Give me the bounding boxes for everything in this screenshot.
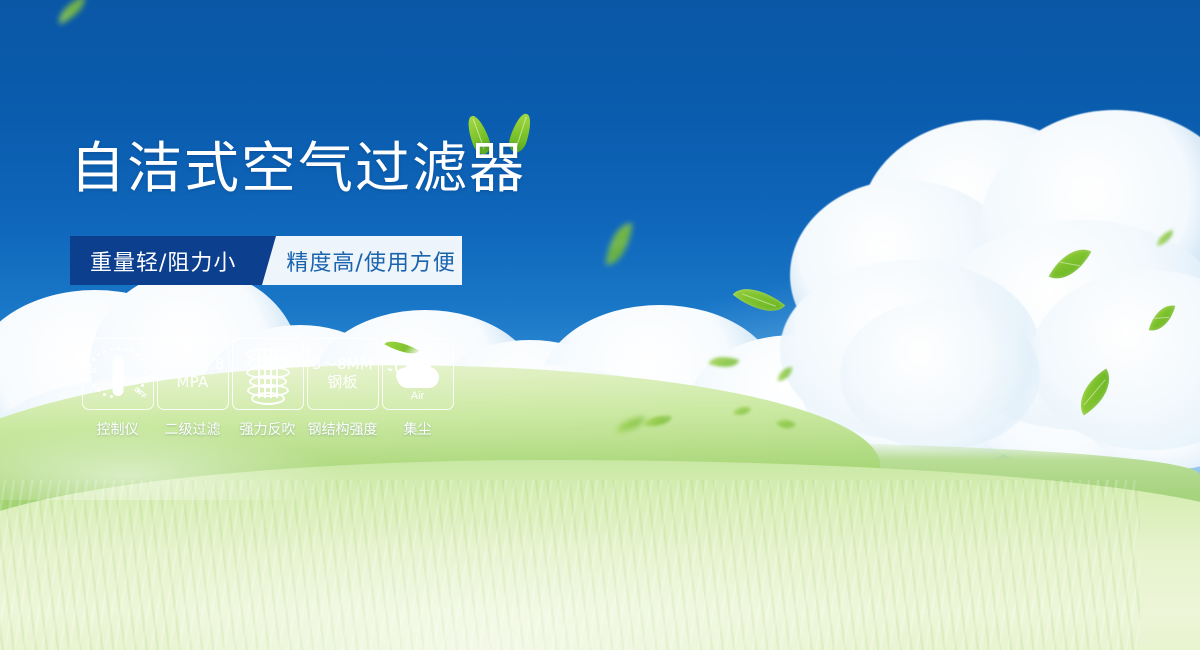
feature-label: 强力反吹 [240, 419, 296, 439]
large-cloud [780, 110, 1200, 440]
gauge-icon: NO OFF [86, 342, 150, 406]
cloud-air-icon: Air [389, 350, 447, 398]
feature-item-dust-collection[interactable]: Air 集尘 [380, 338, 455, 439]
feature-icon-box: Air [382, 338, 454, 410]
feature-item-secondary-filter[interactable]: 0.6～0.8 MPA 二级过滤 [155, 338, 230, 439]
feature-label: 集尘 [404, 419, 432, 439]
feature-list: NO OFF [80, 338, 455, 439]
subtitle-right-text: 精度高/使用方便 [286, 245, 455, 277]
air-label: Air [389, 390, 447, 402]
feature-label: 钢结构强度 [308, 419, 378, 439]
feature-label: 二级过滤 [165, 419, 221, 439]
steel-value-line2: 钢板 [327, 374, 357, 392]
feature-item-steel-strength[interactable]: 3～8MM 钢板 钢结构强度 [305, 338, 380, 439]
page-title: 自洁式空气过滤器 [70, 141, 526, 196]
feature-item-control-gauge[interactable]: NO OFF [80, 338, 155, 439]
product-banner: 自洁式空气过滤器 重量轻/阻力小 精度高/使用方便 NO OFF [0, 0, 1200, 650]
steel-value-line1: 3～8MM [312, 356, 373, 374]
subtitle-bar: 重量轻/阻力小 精度高/使用方便 [70, 236, 462, 285]
gauge-off-label: OFF [132, 386, 147, 400]
pressure-value-line1: 0.6～0.8 [160, 356, 224, 374]
feature-icon-box: NO OFF [82, 338, 154, 410]
feature-label: 控制仪 [97, 419, 139, 439]
grass-path-highlight [180, 490, 940, 650]
feature-item-backblow[interactable]: 强力反吹 [230, 338, 305, 439]
subtitle-left-text: 重量轻/阻力小 [90, 245, 236, 277]
pressure-value-line2: MPA [177, 374, 209, 392]
subtitle-right-panel: 精度高/使用方便 [262, 236, 462, 285]
subtitle-left-panel: 重量轻/阻力小 [70, 236, 262, 285]
feature-icon-box: 0.6～0.8 MPA [157, 338, 229, 410]
coil-filter-icon [242, 346, 294, 402]
feature-icon-box [232, 338, 304, 410]
feature-icon-box: 3～8MM 钢板 [307, 338, 379, 410]
